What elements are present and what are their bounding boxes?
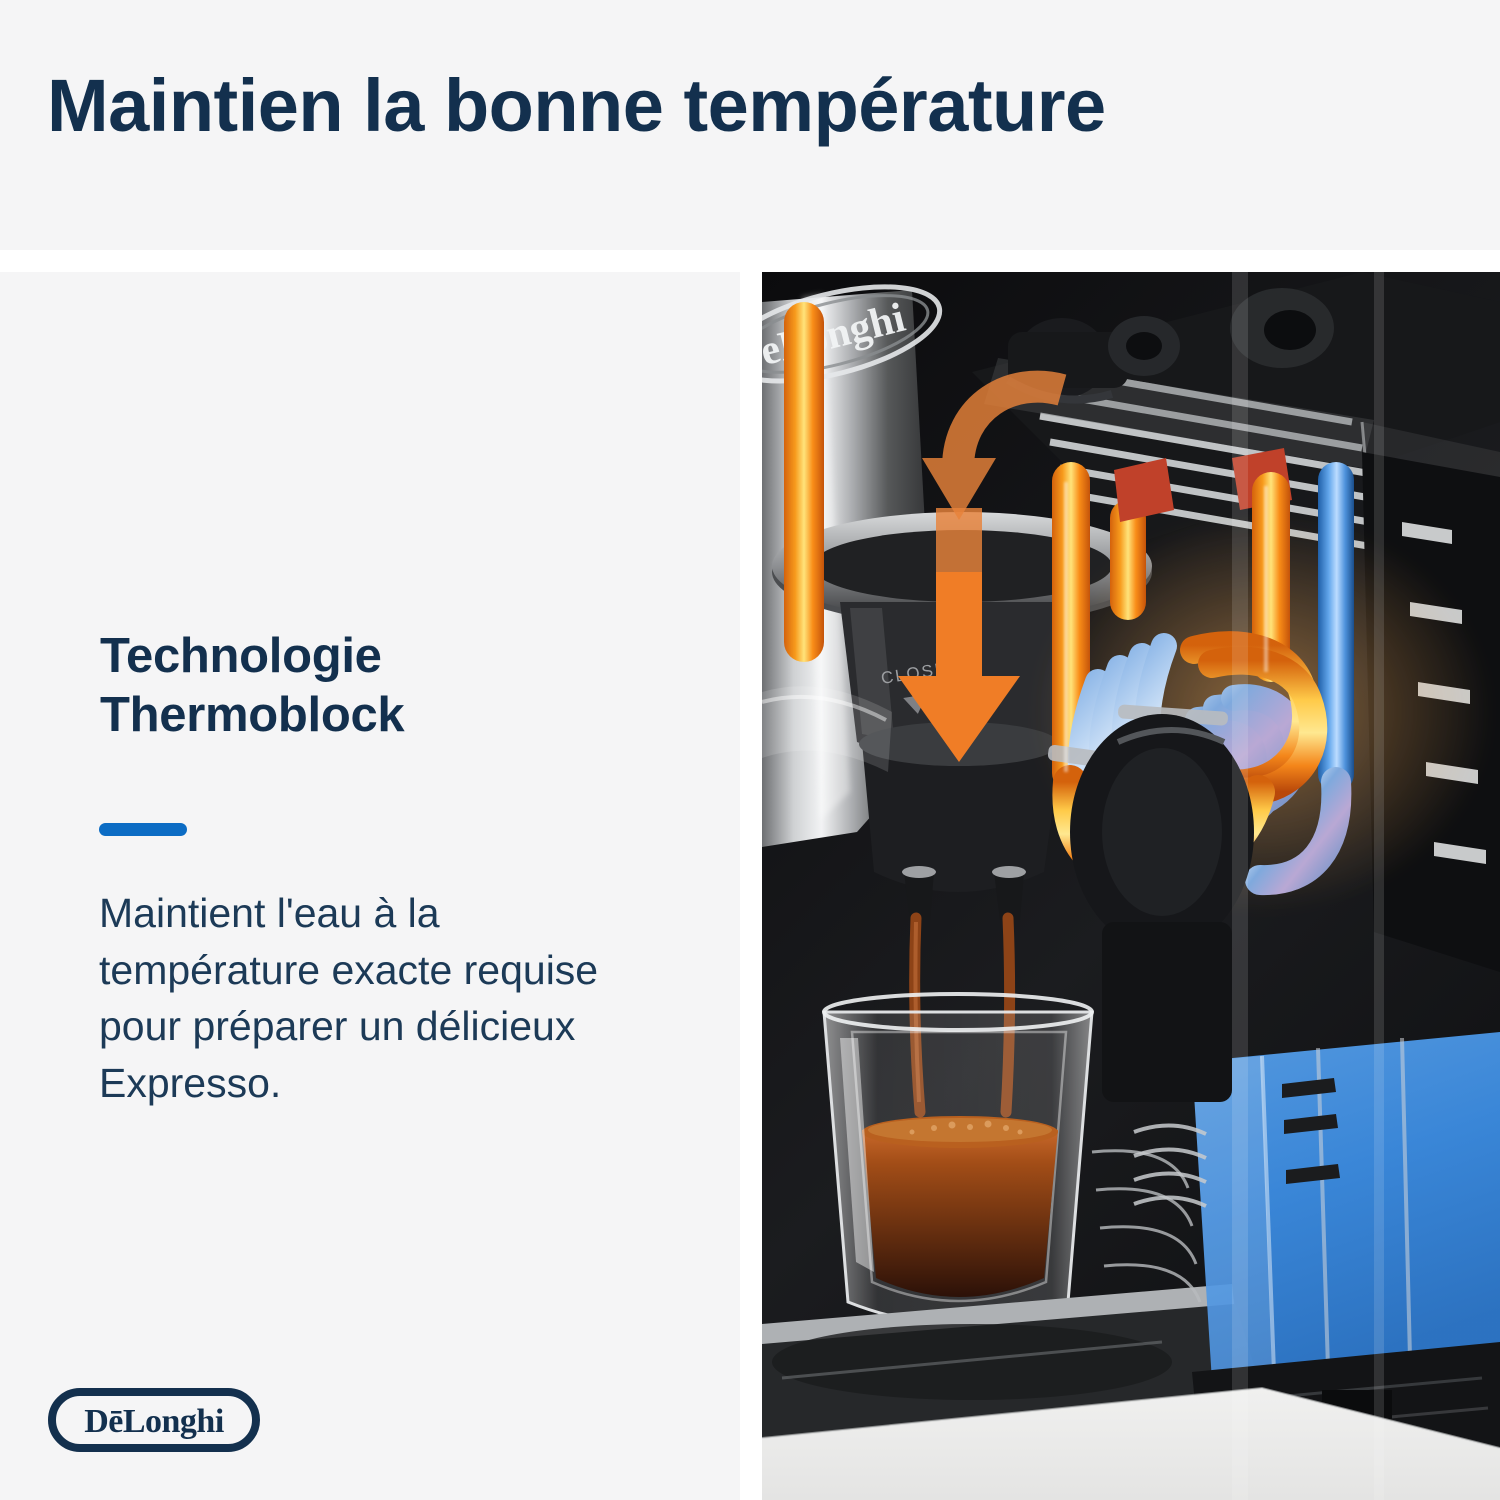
headline-band: Maintien la bonne température: [0, 0, 1500, 250]
feature-description: Maintient l'eau à la température exacte …: [99, 885, 629, 1111]
promo-page: Maintien la bonne température Technologi…: [0, 0, 1500, 1500]
page-title: Maintien la bonne température: [47, 66, 1437, 146]
espresso-glass-cup: [824, 994, 1092, 1324]
feature-heading: Technologie Thermoblock: [100, 627, 660, 745]
feature-text-column: Technologie Thermoblock Maintient l'eau …: [0, 272, 740, 1500]
accent-divider: [99, 823, 187, 836]
delonghi-logo: DēLonghi: [48, 1388, 260, 1452]
logo-wordmark: DēLonghi: [84, 1403, 224, 1440]
hot-tube-left: [784, 302, 824, 662]
product-photo: eLonghi CLOSE: [762, 272, 1500, 1500]
